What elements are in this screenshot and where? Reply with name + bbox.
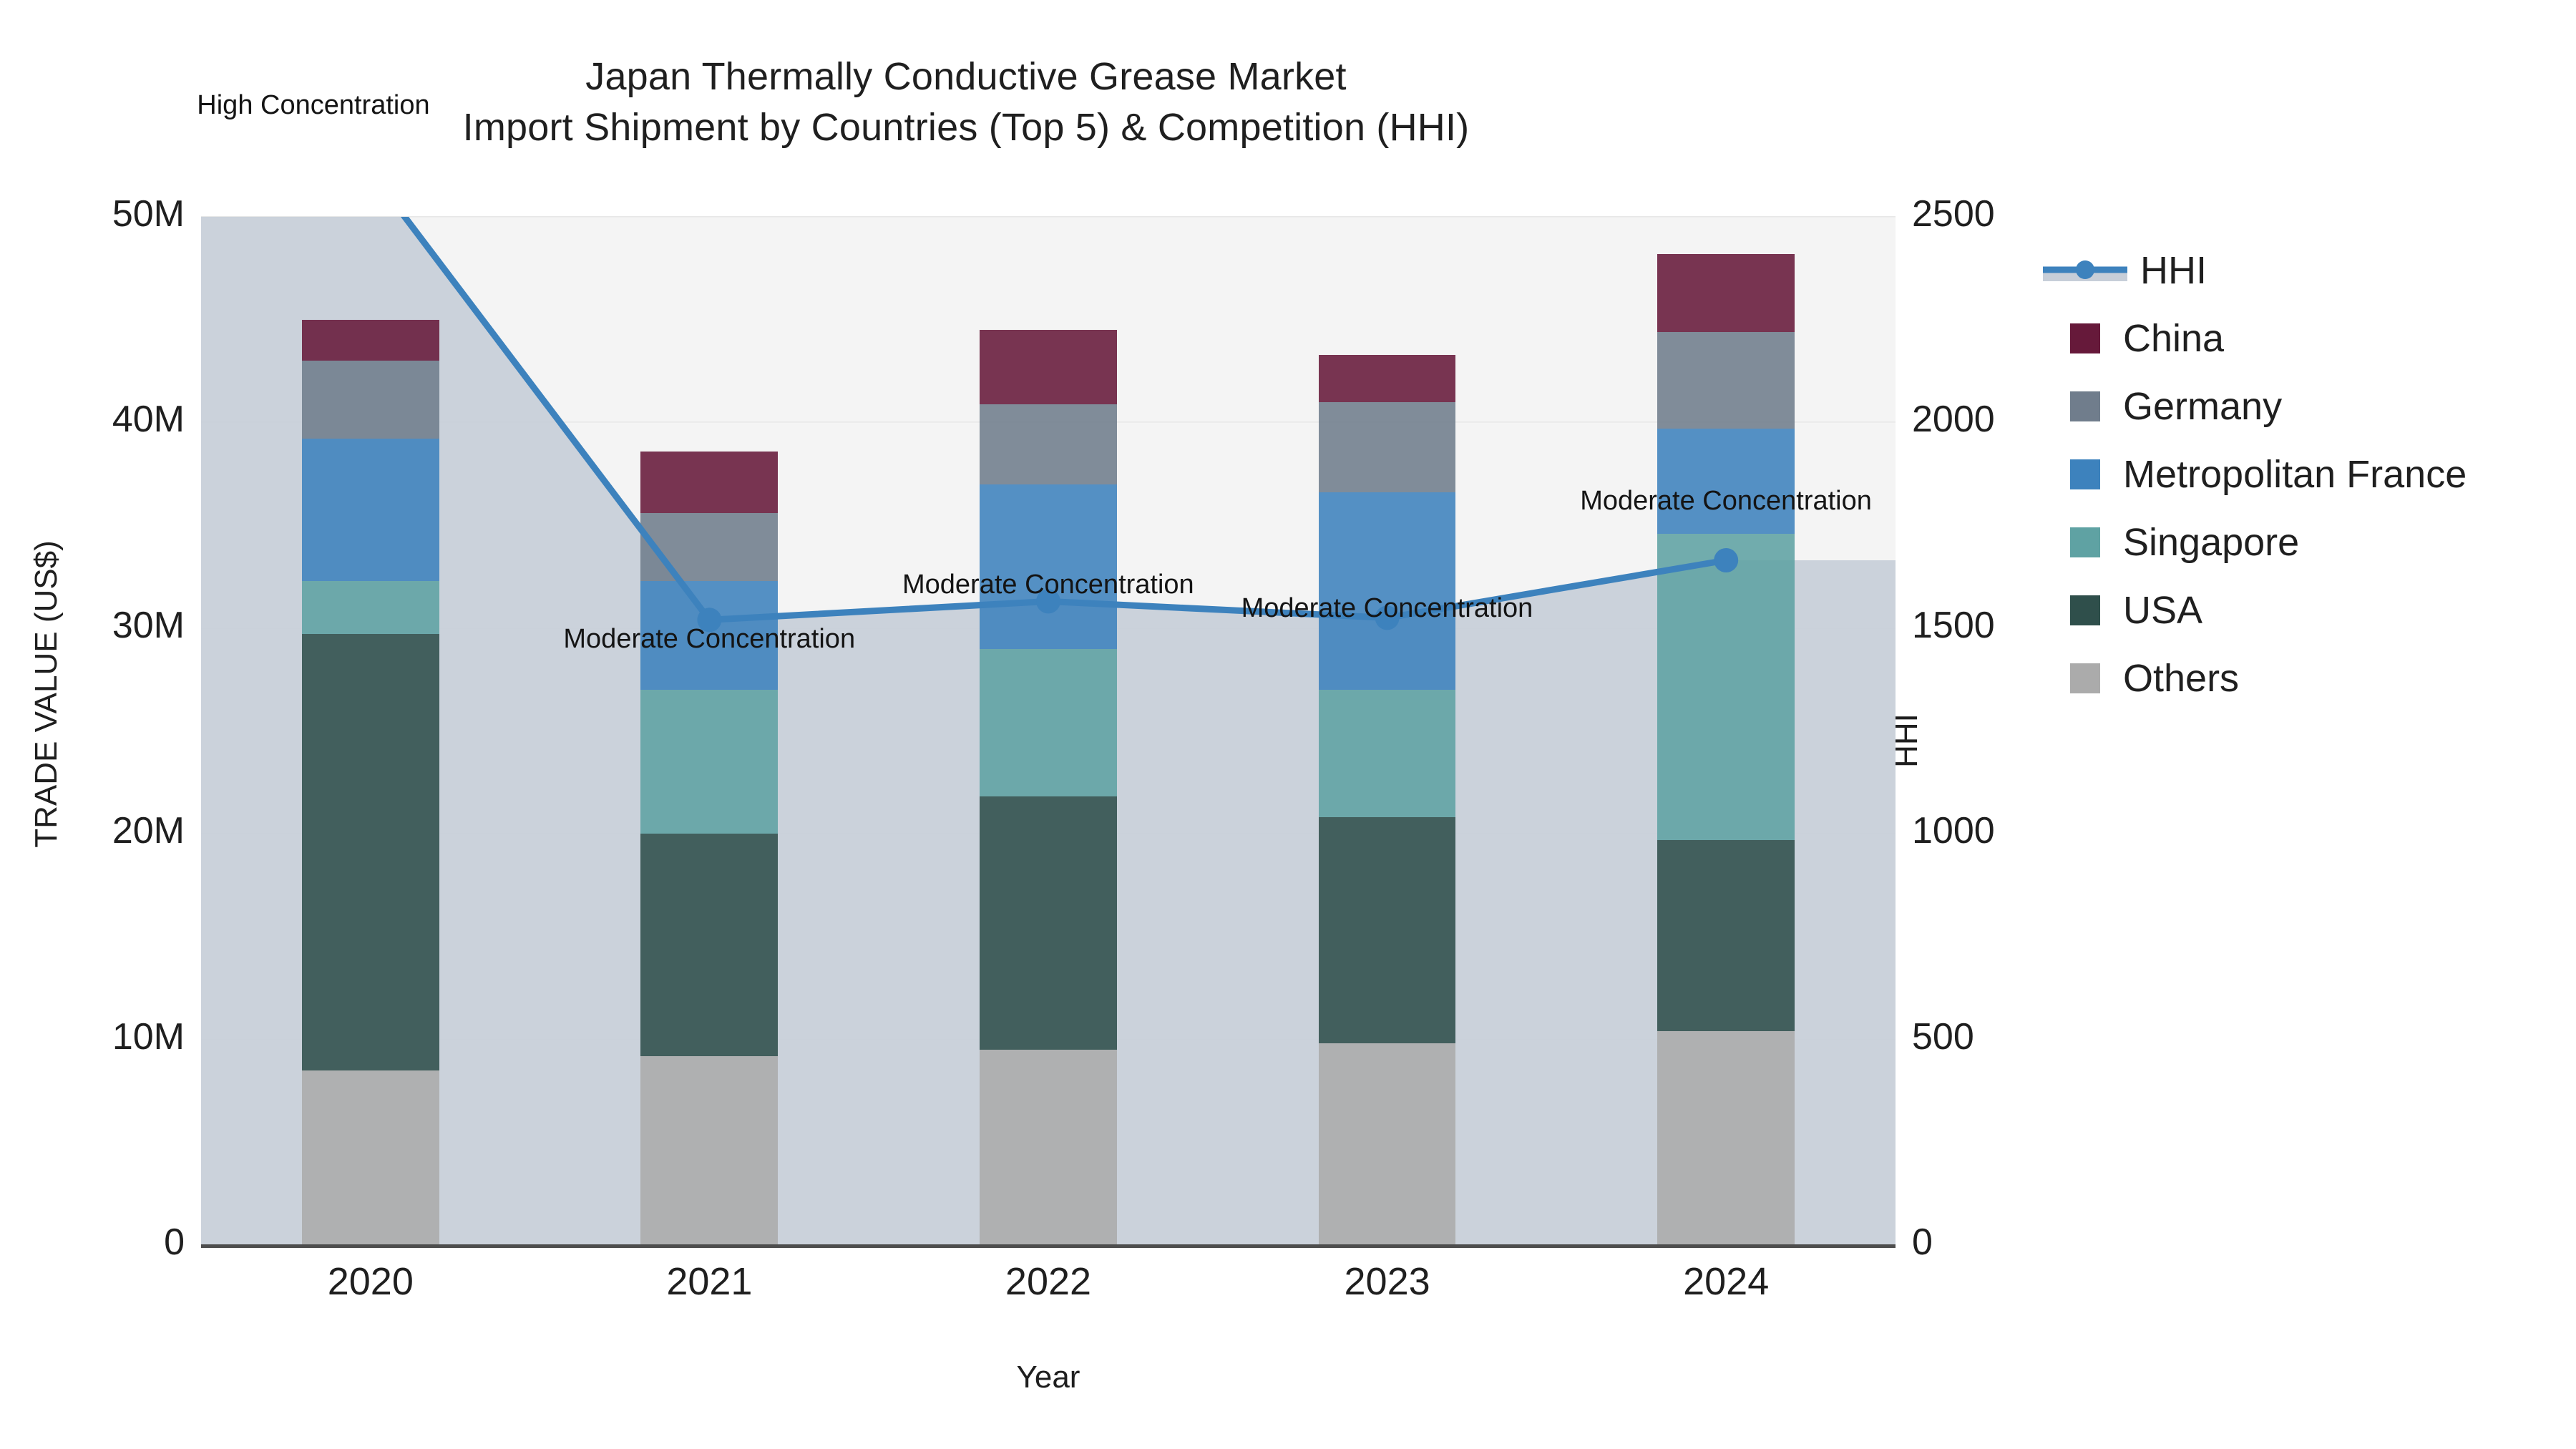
x-axis-tick-label-2021: 2021	[566, 1259, 852, 1304]
x-axis-tick-label-2020: 2020	[228, 1259, 514, 1304]
legend-label: Others	[2123, 656, 2239, 701]
legend-item-others[interactable]: Others	[2043, 644, 2558, 712]
legend-item-metropolitan-france[interactable]: Metropolitan France	[2043, 440, 2558, 508]
legend-swatch	[2070, 527, 2100, 557]
y-axis-right-tick-label: 0	[1912, 1221, 2127, 1264]
legend-swatch	[2070, 391, 2100, 421]
legend-swatch	[2070, 663, 2100, 693]
bar-segment[interactable]	[302, 320, 439, 361]
hhi-line-icon	[2043, 255, 2127, 286]
legend-item-hhi[interactable]: HHI	[2043, 236, 2558, 304]
y-axis-right-tick-label: 1000	[1912, 809, 2127, 852]
legend-label: Metropolitan France	[2123, 452, 2467, 497]
legend-label: China	[2123, 316, 2224, 361]
hhi-annotation-2024: Moderate Concentration	[1580, 486, 1872, 517]
legend-swatch	[2070, 323, 2100, 353]
bar-group-2020[interactable]	[302, 217, 439, 1245]
y-axis-left-tick-label: 50M	[0, 192, 203, 235]
bar-segment[interactable]	[980, 484, 1117, 649]
bar-group-2023[interactable]	[1319, 217, 1456, 1245]
bar-segment[interactable]	[1657, 1031, 1795, 1245]
bar-segment[interactable]	[1319, 1043, 1456, 1245]
y-axis-left-tick-label: 10M	[0, 1015, 203, 1058]
bar-segment[interactable]	[1319, 690, 1456, 817]
bar-segment[interactable]	[980, 404, 1117, 484]
bar-segment[interactable]	[1319, 817, 1456, 1043]
y-axis-right-tick-label: 2500	[1912, 192, 2127, 235]
bar-segment[interactable]	[640, 834, 778, 1055]
y-axis-right-title: HHI	[1889, 597, 1925, 884]
bar-segment[interactable]	[980, 330, 1117, 404]
bar-segment[interactable]	[1657, 534, 1795, 840]
bar-segment[interactable]	[302, 1070, 439, 1245]
legend-label: USA	[2123, 588, 2202, 633]
bar-group-2024[interactable]	[1657, 217, 1795, 1245]
x-axis-tick-label-2022: 2022	[905, 1259, 1191, 1304]
y-axis-left-title: TRADE VALUE (US$)	[29, 372, 64, 1016]
x-axis-tick-label-2023: 2023	[1244, 1259, 1531, 1304]
bar-segment[interactable]	[1319, 492, 1456, 690]
bar-segment[interactable]	[980, 796, 1117, 1050]
y-axis-left-tick-label: 0	[0, 1221, 203, 1264]
legend-item-usa[interactable]: USA	[2043, 576, 2558, 644]
legend-item-china[interactable]: China	[2043, 304, 2558, 372]
legend-label: Germany	[2123, 384, 2282, 429]
bar-segment[interactable]	[980, 649, 1117, 797]
bar-segment[interactable]	[302, 439, 439, 580]
bar-group-2022[interactable]	[980, 217, 1117, 1245]
bar-segment[interactable]	[640, 452, 778, 513]
chart-legend: HHIChinaGermanyMetropolitan FranceSingap…	[2043, 236, 2558, 712]
hhi-annotation-2022: Moderate Concentration	[902, 570, 1194, 600]
hhi-annotation-2020: High Concentration	[197, 90, 429, 121]
hhi-annotation-2021: Moderate Concentration	[563, 624, 855, 655]
bar-segment[interactable]	[1657, 840, 1795, 1031]
bar-segment[interactable]	[302, 634, 439, 1070]
bar-segment[interactable]	[640, 690, 778, 834]
legend-swatch	[2070, 595, 2100, 625]
legend-label: HHI	[2140, 248, 2207, 293]
bar-segment[interactable]	[302, 361, 439, 439]
bar-segment[interactable]	[1319, 402, 1456, 492]
bar-group-2021[interactable]	[640, 217, 778, 1245]
bar-segment[interactable]	[1319, 355, 1456, 402]
plot-area	[201, 217, 1896, 1245]
bar-segment[interactable]	[1657, 429, 1795, 534]
legend-item-singapore[interactable]: Singapore	[2043, 508, 2558, 576]
x-axis-tick-label-2024: 2024	[1583, 1259, 1869, 1304]
chart-figure: Japan Thermally Conductive Grease Market…	[0, 0, 2576, 1449]
legend-label: Singapore	[2123, 520, 2299, 565]
y-axis-right-tick-label: 500	[1912, 1015, 2127, 1058]
legend-item-germany[interactable]: Germany	[2043, 372, 2558, 440]
bar-segment[interactable]	[640, 1056, 778, 1245]
hhi-annotation-2023: Moderate Concentration	[1241, 593, 1533, 624]
bar-segment[interactable]	[1657, 332, 1795, 429]
legend-swatch	[2070, 459, 2100, 489]
x-axis-title: Year	[201, 1360, 1896, 1395]
bar-segment[interactable]	[980, 1050, 1117, 1245]
bar-segment[interactable]	[640, 513, 778, 581]
bar-segment[interactable]	[302, 581, 439, 635]
bar-segment[interactable]	[1657, 254, 1795, 332]
x-axis-line	[201, 1244, 1896, 1248]
